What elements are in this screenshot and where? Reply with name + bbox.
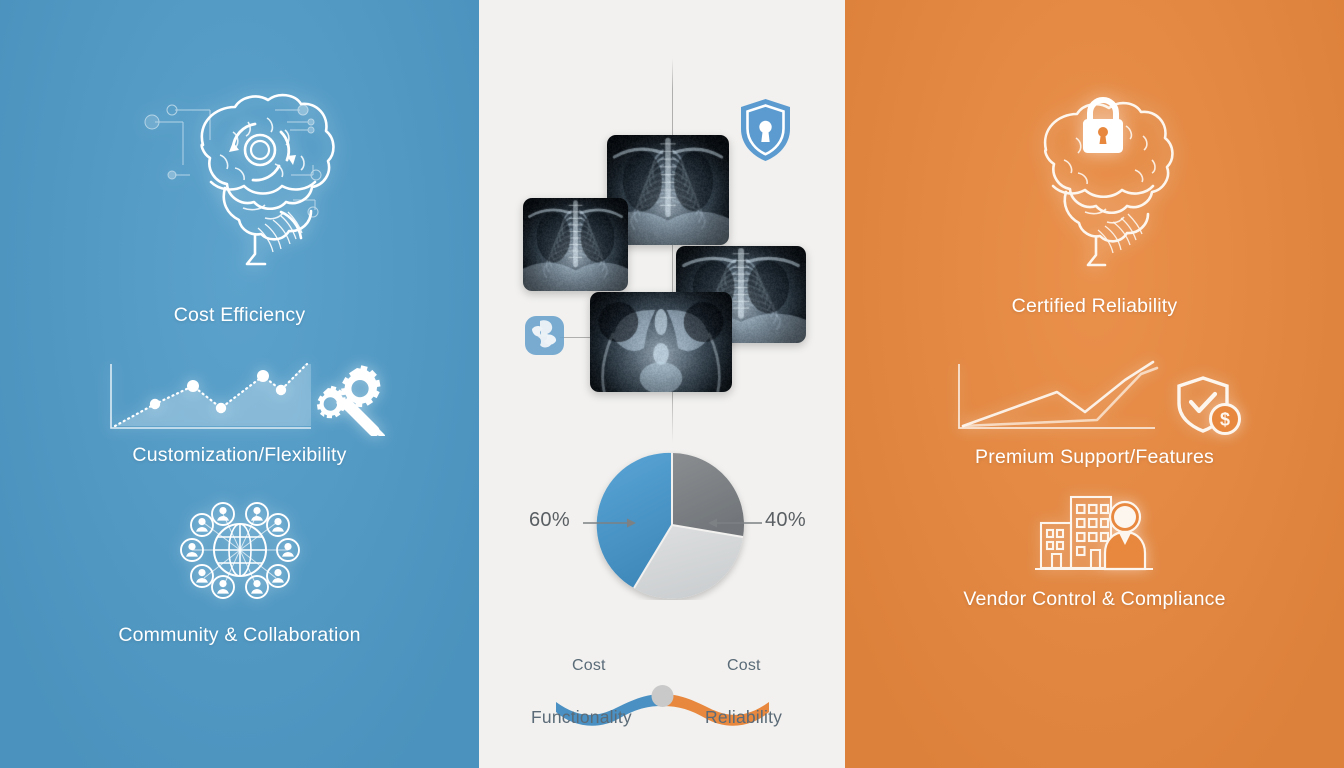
feature-label: Customization/Flexibility xyxy=(132,444,346,467)
feature-cost-efficiency[interactable]: Cost Efficiency xyxy=(0,60,479,327)
growth-chart-shield-dollar-icon: $ xyxy=(945,360,1245,438)
medical-cross-icon xyxy=(522,313,567,358)
pie-label-40: 40% xyxy=(765,509,806,532)
feature-certified-reliability[interactable]: Certified Reliability xyxy=(845,70,1344,318)
growth-chart-gears-icon xyxy=(95,360,385,436)
pie-arrow-right xyxy=(705,516,762,530)
feature-label: Community & Collaboration xyxy=(118,624,360,647)
infographic-canvas: Cost Efficiency Customization/Flexib xyxy=(0,0,1344,768)
feature-community-collaboration[interactable]: Community & Collaboration xyxy=(0,490,479,647)
feature-label: Premium Support/Features xyxy=(975,446,1214,469)
pie-label-60: 60% xyxy=(529,509,570,532)
pelvis-xray-bottom[interactable] xyxy=(590,292,732,392)
svg-text:$: $ xyxy=(1219,410,1229,430)
global-network-people-icon xyxy=(160,490,320,610)
balance-label-functionality: Functionality xyxy=(531,707,632,728)
feature-label: Cost Efficiency xyxy=(174,304,306,327)
balance-label-reliability: Reliability xyxy=(705,707,782,728)
balance-label-cost-left: Cost xyxy=(572,657,606,675)
building-person-icon xyxy=(1035,492,1155,574)
cost-balance-diagram xyxy=(516,652,809,752)
brain-circuit-icon xyxy=(115,60,365,290)
feature-vendor-control-compliance[interactable]: Vendor Control & Compliance xyxy=(845,492,1344,611)
brain-lock-icon xyxy=(980,70,1210,285)
feature-label: Certified Reliability xyxy=(1012,295,1178,318)
chest-xray-left[interactable] xyxy=(523,198,628,291)
shield-keyhole-icon xyxy=(738,97,793,163)
pie-arrow-left xyxy=(583,516,638,530)
balance-label-cost-right: Cost xyxy=(727,657,761,675)
feature-premium-support-features[interactable]: $ Premium Support/Features xyxy=(845,360,1344,469)
feature-customization-flexibility[interactable]: Customization/Flexibility xyxy=(0,360,479,467)
feature-label: Vendor Control & Compliance xyxy=(963,588,1225,611)
